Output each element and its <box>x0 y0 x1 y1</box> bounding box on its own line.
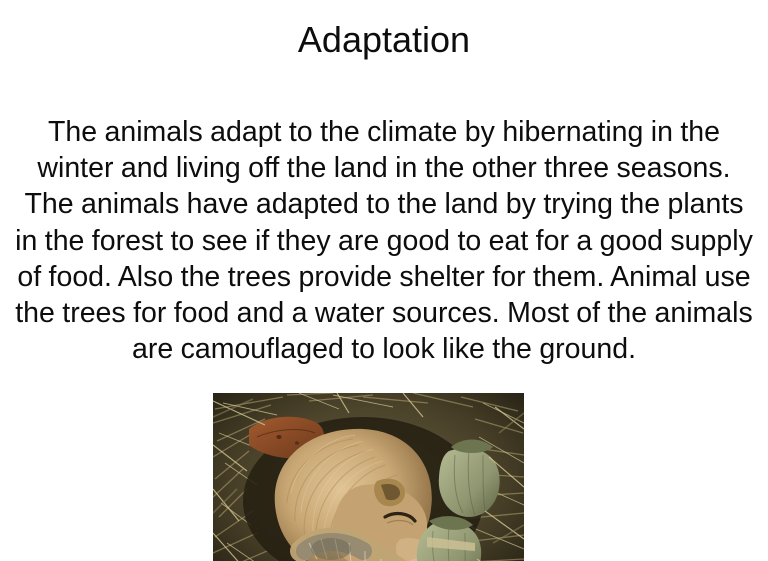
slide-body-text: The animals adapt to the climate by hibe… <box>14 114 754 367</box>
dormouse-photo-illustration <box>213 393 524 561</box>
dormouse-photo <box>213 393 524 561</box>
page-title: Adaptation <box>0 18 768 62</box>
slide-canvas: Adaptation The animals adapt to the clim… <box>0 0 768 561</box>
